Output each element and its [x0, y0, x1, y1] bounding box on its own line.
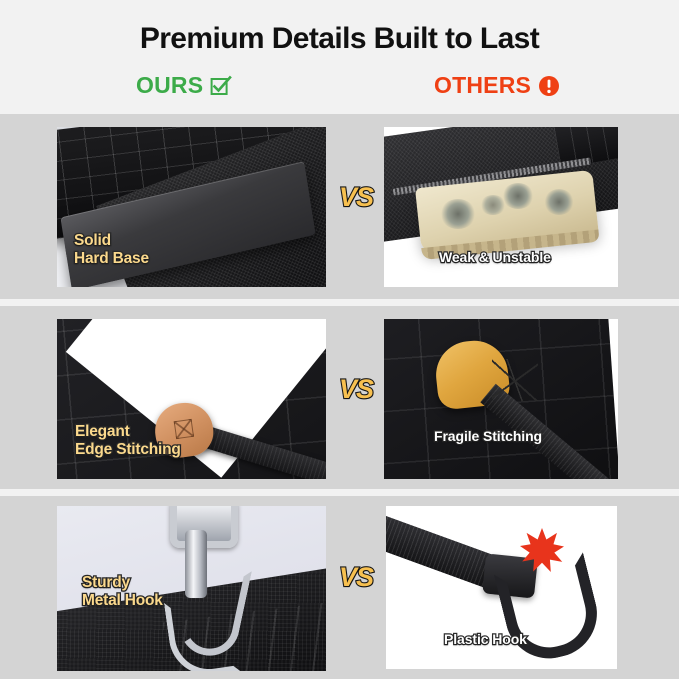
row-2-ours-caption: Elegant Edge Stitching: [75, 423, 181, 458]
checked-checkbox-icon: [210, 75, 232, 97]
row-1-ours-panel: Solid Hard Base: [57, 127, 326, 287]
row-2-others-caption: Fragile Stitching: [434, 429, 542, 445]
row-1-others-caption: Weak & Unstable: [439, 250, 551, 266]
comparison-row-3: Sturdy Metal Hook VS Plastic Hook: [0, 496, 679, 679]
row-3-ours-panel: Sturdy Metal Hook: [57, 506, 326, 671]
comparison-infographic: Premium Details Built to Last OURS OTHER…: [0, 0, 679, 679]
row-1-others-panel: Weak & Unstable: [384, 127, 618, 287]
comparison-row-2: Elegant Edge Stitching VS Fragile Stitch…: [0, 306, 679, 489]
ours-label-text: OURS: [136, 72, 203, 99]
row-1-vs-badge: VS: [332, 182, 380, 213]
row-3-vs-badge: VS: [332, 562, 380, 593]
header: Premium Details Built to Last OURS OTHER…: [0, 0, 679, 114]
row-2-ours-panel: Elegant Edge Stitching: [57, 319, 326, 479]
row-2-vs-badge: VS: [332, 374, 380, 405]
row-3-others-caption: Plastic Hook: [444, 632, 527, 648]
others-label-text: OTHERS: [434, 72, 531, 99]
exclamation-circle-icon: [538, 75, 560, 97]
column-labels: OURS OTHERS: [0, 70, 679, 110]
page-title: Premium Details Built to Last: [0, 20, 679, 58]
comparison-row-1: Solid Hard Base VS Weak & Unstable: [0, 114, 679, 299]
fragile-stitching-image: [384, 319, 618, 479]
row-3-ours-caption: Sturdy Metal Hook: [82, 574, 163, 609]
row-2-others-panel: Fragile Stitching: [384, 319, 618, 479]
row-1-ours-caption: Solid Hard Base: [74, 232, 149, 267]
column-label-others: OTHERS: [434, 72, 560, 99]
row-3-others-panel: Plastic Hook: [386, 506, 617, 669]
column-label-ours: OURS: [136, 72, 232, 99]
